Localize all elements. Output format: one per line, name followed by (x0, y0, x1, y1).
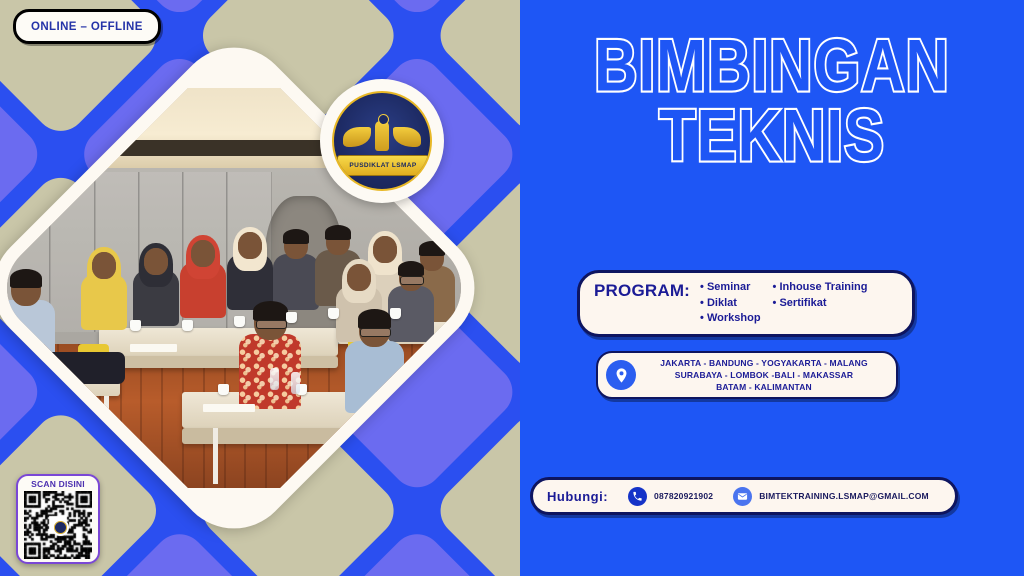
title-line-2: TEKNIS (520, 102, 1024, 171)
program-item: Diklat (700, 296, 761, 312)
attendee-head (144, 248, 168, 275)
seminar-attendee (81, 252, 127, 330)
online-offline-badge: ONLINE – OFFLINE (13, 9, 161, 44)
attendee-head (238, 232, 262, 259)
phone-number: 087820921902 (654, 491, 713, 501)
attendee-body (273, 254, 319, 310)
contact-label: Hubungi: (547, 489, 608, 504)
seminar-attendee (133, 248, 179, 326)
program-columns: Seminar Diklat Workshop Inhouse Training… (700, 280, 902, 327)
emblem-ribbon-text: PUSDIKLAT LSMAP (349, 162, 416, 169)
cup (234, 316, 245, 327)
bottle (270, 368, 279, 390)
attendee-hair (253, 301, 288, 321)
qr-code-label: SCAN DISINI (31, 479, 85, 489)
program-box: PROGRAM: Seminar Diklat Workshop Inhouse… (577, 270, 915, 337)
attendee-head (347, 264, 371, 291)
organization-logo-badge: PUSDIKLAT LSMAP (320, 79, 444, 203)
right-content-panel: BIMBINGAN TEKNIS PROGRAM: Seminar Diklat… (520, 0, 1024, 576)
paper (130, 344, 177, 352)
envelope-icon (733, 487, 752, 506)
attendee-hair (419, 241, 445, 256)
attendee-glasses (400, 276, 424, 285)
program-item: Inhouse Training (773, 280, 868, 296)
program-column-2: Inhouse Training Sertifikat (773, 280, 868, 327)
contact-bar: Hubungi: 087820921902 BIMTEKTRAINING.LSM… (530, 477, 958, 515)
attendee-head (191, 240, 215, 267)
attendee-hair (325, 225, 351, 240)
emblem-ribbon: PUSDIKLAT LSMAP (337, 155, 429, 176)
online-offline-label: ONLINE – OFFLINE (31, 21, 143, 33)
qr-center-logo-icon (52, 519, 69, 536)
locations-line-1: JAKARTA - BANDUNG - YOGYAKARTA - MALANG (642, 357, 886, 369)
seminar-attendee (227, 232, 273, 310)
program-label: PROGRAM: (594, 280, 690, 301)
emblem-head-icon (378, 114, 389, 125)
attendee-hair (283, 229, 309, 244)
phone-contact[interactable]: 087820921902 (628, 487, 713, 506)
emblem-wing-right-icon (393, 127, 421, 147)
title-line-1: BIMBINGAN (520, 32, 1024, 101)
cup (218, 384, 229, 395)
program-item: Sertifikat (773, 296, 868, 312)
attendee-hair (398, 261, 424, 276)
desk-front (99, 356, 338, 368)
locations-box: JAKARTA - BANDUNG - YOGYAKARTA - MALANG … (596, 351, 898, 399)
attendee-head (373, 236, 397, 263)
paper (203, 404, 255, 412)
emblem-body-icon (375, 121, 389, 151)
map-pin-icon (606, 360, 636, 390)
attendee-hair (358, 309, 392, 329)
cup (182, 320, 193, 331)
seminar-attendee (273, 232, 319, 310)
desk-leg (213, 428, 218, 484)
bottle (291, 372, 300, 394)
cup (328, 308, 339, 319)
promo-poster: PUSDIKLAT LSMAP ONLINE – OFFLINE SCAN DI… (0, 0, 1024, 576)
attendee-glasses (256, 320, 288, 329)
poster-title: BIMBINGAN TEKNIS (520, 38, 1024, 165)
phone-icon (628, 487, 647, 506)
locations-line-3: BATAM - KALIMANTAN (642, 381, 886, 393)
locations-line-2: SURABAYA - LOMBOK -BALI - MAKASSAR (642, 369, 886, 381)
attendee-hair (10, 269, 43, 288)
qr-code-image[interactable] (24, 491, 92, 559)
seminar-attendee (180, 240, 226, 318)
email-contact[interactable]: BIMTEKTRAINING.LSMAP@GMAIL.COM (733, 487, 929, 506)
program-item: Workshop (700, 311, 761, 327)
cup (286, 312, 297, 323)
email-address: BIMTEKTRAINING.LSMAP@GMAIL.COM (759, 491, 929, 501)
program-item: Seminar (700, 280, 761, 296)
qr-code-card[interactable]: SCAN DISINI (16, 474, 100, 564)
emblem-wing-left-icon (343, 127, 371, 147)
pusdiklat-emblem-icon: PUSDIKLAT LSMAP (332, 91, 432, 191)
program-column-1: Seminar Diklat Workshop (700, 280, 761, 327)
attendee-head (92, 252, 116, 279)
cup (130, 320, 141, 331)
locations-text: JAKARTA - BANDUNG - YOGYAKARTA - MALANG … (642, 357, 886, 394)
cup (390, 308, 401, 319)
attendee-glasses (360, 328, 391, 337)
